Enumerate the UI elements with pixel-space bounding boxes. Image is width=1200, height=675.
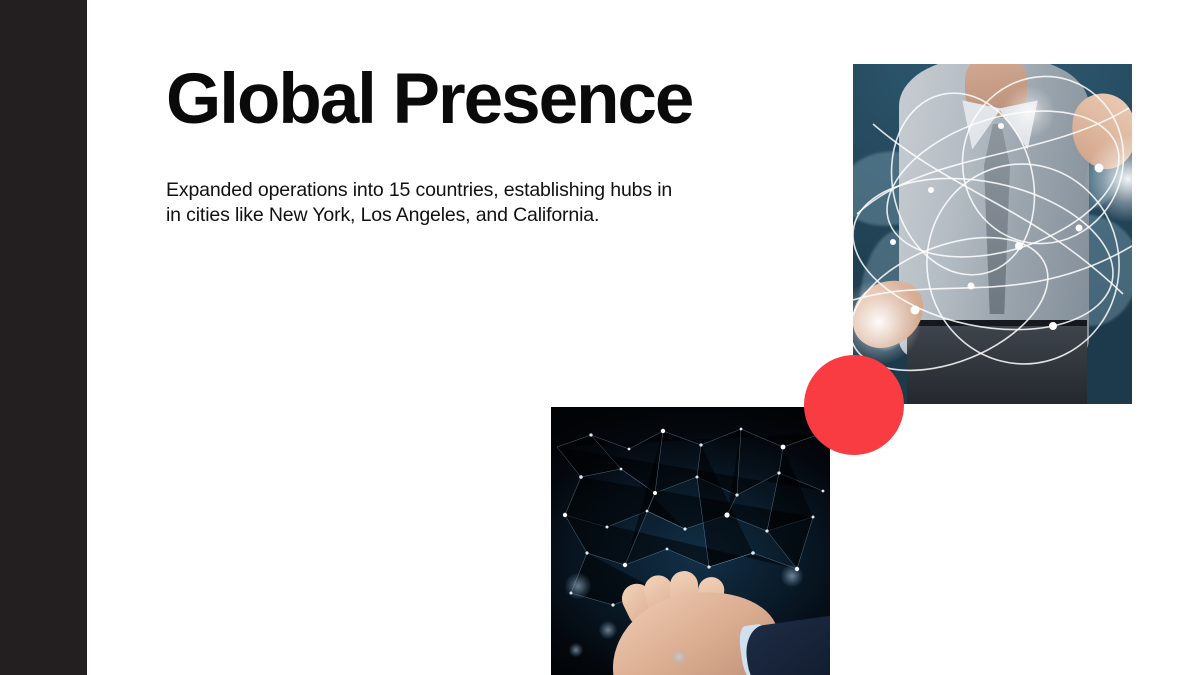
image-globe-in-hand bbox=[551, 407, 830, 675]
bokeh-light bbox=[569, 643, 583, 657]
bokeh-light bbox=[781, 565, 803, 587]
red-circle-accent-shape bbox=[804, 355, 904, 455]
bokeh-light bbox=[671, 649, 687, 665]
sidebar-accent-bar bbox=[0, 0, 87, 675]
text-content-block: Global Presence Expanded operations into… bbox=[166, 64, 726, 135]
bokeh-light bbox=[599, 621, 617, 639]
slide-global-presence: Global Presence Expanded operations into… bbox=[0, 0, 1200, 675]
image-businessman-network bbox=[853, 64, 1132, 404]
network-overlay-graphic bbox=[853, 64, 1132, 404]
page-title: Global Presence bbox=[166, 64, 726, 135]
bokeh-light bbox=[565, 573, 591, 599]
body-paragraph: Expanded operations into 15 countries, e… bbox=[166, 178, 691, 227]
